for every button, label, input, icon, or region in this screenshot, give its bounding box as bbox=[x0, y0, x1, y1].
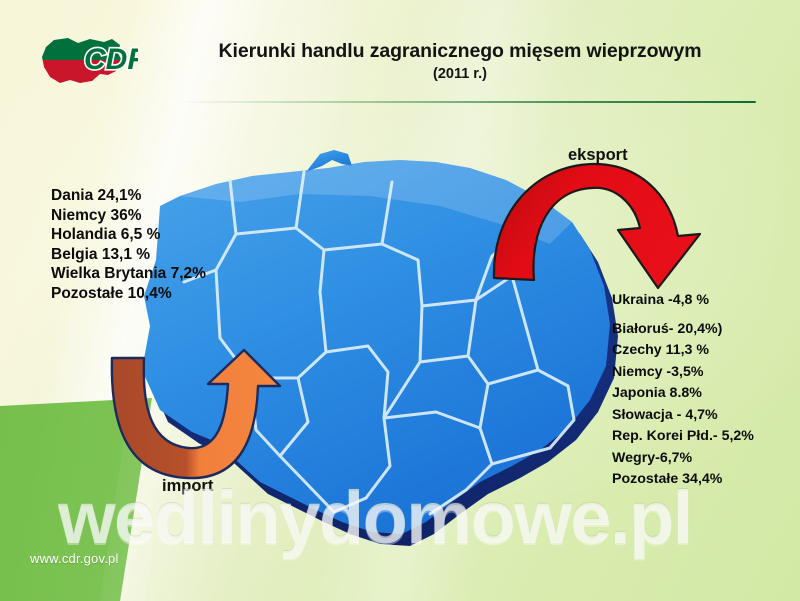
list-item: Japonia 8.8% bbox=[612, 383, 797, 405]
title-divider bbox=[168, 101, 756, 103]
page-subtitle: (2011 r.) bbox=[150, 66, 770, 82]
list-item: Wielka Brytania 7,2% bbox=[51, 264, 281, 284]
list-item: Belgia 13,1 % bbox=[51, 245, 281, 265]
cdr-logo-graphic: CDR bbox=[34, 31, 138, 95]
export-partner-list: Ukraina -4,8 % Białoruś- 20,4%) Czechy 1… bbox=[612, 290, 797, 491]
title-block: Kierunki handlu zagranicznego mięsem wie… bbox=[150, 40, 770, 82]
list-item: Rep. Korei Płd.- 5,2% bbox=[612, 426, 797, 448]
list-item: Pozostałe 10,4% bbox=[51, 284, 281, 304]
import-arrow-shape bbox=[112, 350, 280, 478]
list-item: Ukraina -4,8 % bbox=[612, 290, 797, 312]
list-item: Czechy 11,3 % bbox=[612, 340, 797, 362]
import-label: import bbox=[162, 477, 213, 496]
slide-canvas: CDR Kierunki handlu zagranicznego mięsem… bbox=[0, 0, 800, 601]
export-label: eksport bbox=[568, 146, 628, 165]
site-url: www.cdr.gov.pl bbox=[30, 551, 119, 566]
cdr-logo: CDR bbox=[34, 31, 138, 95]
list-item: Białoruś- 20,4%) bbox=[612, 319, 797, 341]
import-arrow-graphic bbox=[108, 352, 298, 487]
list-item: Niemcy 36% bbox=[51, 206, 281, 226]
list-item: Słowacja - 4,7% bbox=[612, 405, 797, 427]
logo-text: CDR bbox=[84, 43, 138, 76]
list-item: Dania 24,1% bbox=[51, 186, 281, 206]
import-partner-list: Dania 24,1% Niemcy 36% Holandia 6,5 % Be… bbox=[51, 186, 281, 304]
page-title: Kierunki handlu zagranicznego mięsem wie… bbox=[150, 40, 770, 63]
import-arrow bbox=[108, 352, 298, 487]
list-item: Holandia 6,5 % bbox=[51, 225, 281, 245]
list-item: Pozostałe 34,4% bbox=[612, 469, 797, 491]
list-item: Wegry-6,7% bbox=[612, 448, 797, 470]
export-arrow-shape bbox=[494, 164, 700, 288]
list-item: Niemcy -3,5% bbox=[612, 362, 797, 384]
